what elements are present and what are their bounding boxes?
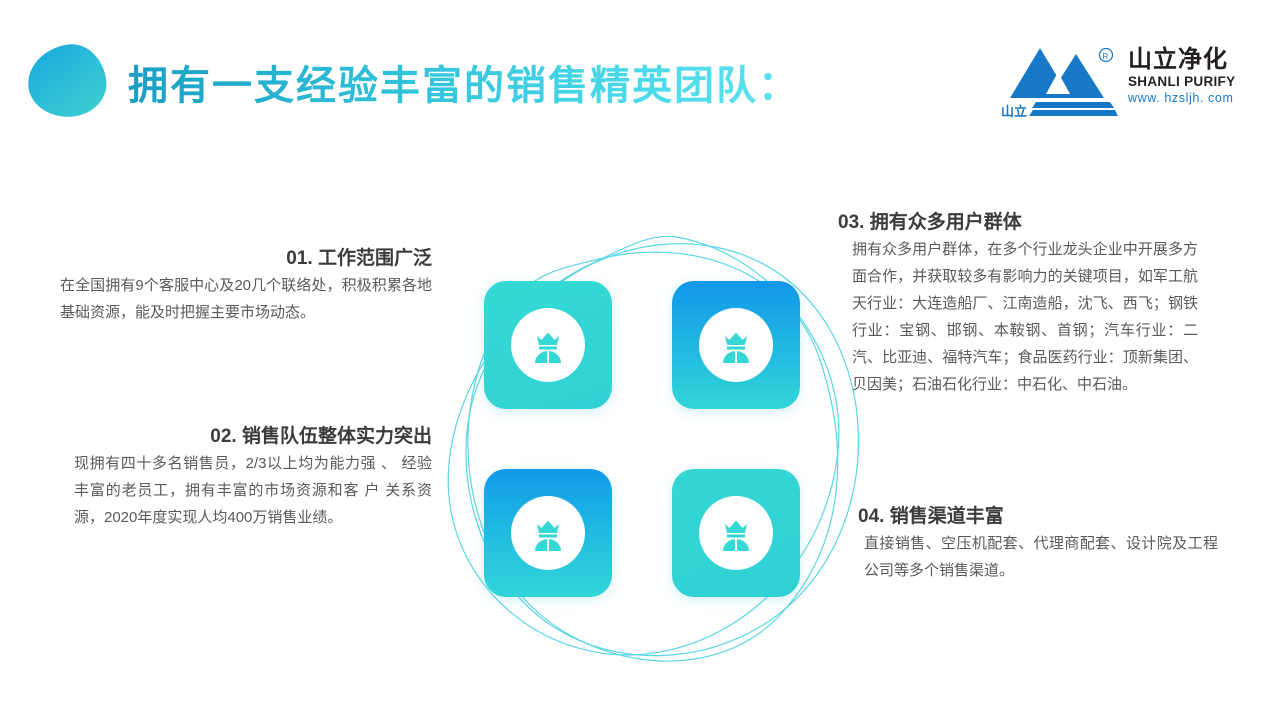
content-block-02: 02. 销售队伍整体实力突出 现拥有四十多名销售员，2/3以上均为能力强 、 经…: [60, 424, 432, 531]
icon-tile-1[interactable]: [484, 281, 612, 409]
icon-tile-3[interactable]: [484, 469, 612, 597]
icon-tile-4[interactable]: [672, 469, 800, 597]
crowned-person-icon: [526, 511, 570, 555]
crowned-person-icon: [714, 323, 758, 367]
content-block-01: 01. 工作范围广泛 在全国拥有9个客服中心及20几个联络处，积极积累各地基础资…: [60, 246, 432, 326]
icon-tile-1-disc: [511, 308, 585, 382]
icon-tile-2-disc: [699, 308, 773, 382]
mountain-logo-mark-icon: 山立 R: [1000, 42, 1120, 120]
slide-header: 拥有一支经验丰富的销售精英团队： 山立 R 山立净化 SHANLI PURIFY…: [0, 0, 1280, 150]
content-block-02-body: 现拥有四十多名销售员，2/3以上均为能力强 、 经验丰富的老员工，拥有丰富的市场…: [60, 450, 432, 531]
header-blob-decoration-icon: [23, 40, 110, 122]
content-block-03-body: 拥有众多用户群体，在多个行业龙头企业中开展多方面合作，并获取较多有影响力的关键项…: [838, 236, 1198, 398]
logo-website: www. hzsljh. com: [1128, 90, 1224, 106]
icon-tile-4-disc: [699, 496, 773, 570]
content-block-03: 03. 拥有众多用户群体 拥有众多用户群体，在多个行业龙头企业中开展多方面合作，…: [838, 210, 1198, 398]
logo-company-en: SHANLI PURIFY: [1128, 74, 1224, 90]
logo-company-cn: 山立净化: [1128, 46, 1224, 74]
page-title: 拥有一支经验丰富的销售精英团队：: [128, 60, 800, 112]
center-graphic: [420, 175, 890, 675]
icon-tile-grid: [484, 281, 800, 597]
icon-tile-2[interactable]: [672, 281, 800, 409]
crowned-person-icon: [714, 511, 758, 555]
content-block-03-title: 03. 拥有众多用户群体: [838, 210, 1198, 236]
svg-text:R: R: [1103, 52, 1109, 61]
content-block-04-title: 04. 销售渠道丰富: [858, 504, 1218, 530]
logo-mark-sub-label: 山立: [1001, 104, 1027, 119]
content-block-01-body: 在全国拥有9个客服中心及20几个联络处，积极积累各地基础资源，能及时把握主要市场…: [60, 272, 432, 326]
icon-tile-3-disc: [511, 496, 585, 570]
logo-text-group: 山立净化 SHANLI PURIFY www. hzsljh. com: [1128, 46, 1224, 106]
company-logo: 山立 R 山立净化 SHANLI PURIFY www. hzsljh. com: [1000, 42, 1222, 122]
content-block-02-title: 02. 销售队伍整体实力突出: [60, 424, 432, 450]
crowned-person-icon: [526, 323, 570, 367]
content-block-04: 04. 销售渠道丰富 直接销售、空压机配套、代理商配套、设计院及工程公司等多个销…: [858, 504, 1218, 584]
content-block-01-title: 01. 工作范围广泛: [60, 246, 432, 272]
content-block-04-body: 直接销售、空压机配套、代理商配套、设计院及工程公司等多个销售渠道。: [858, 530, 1218, 584]
